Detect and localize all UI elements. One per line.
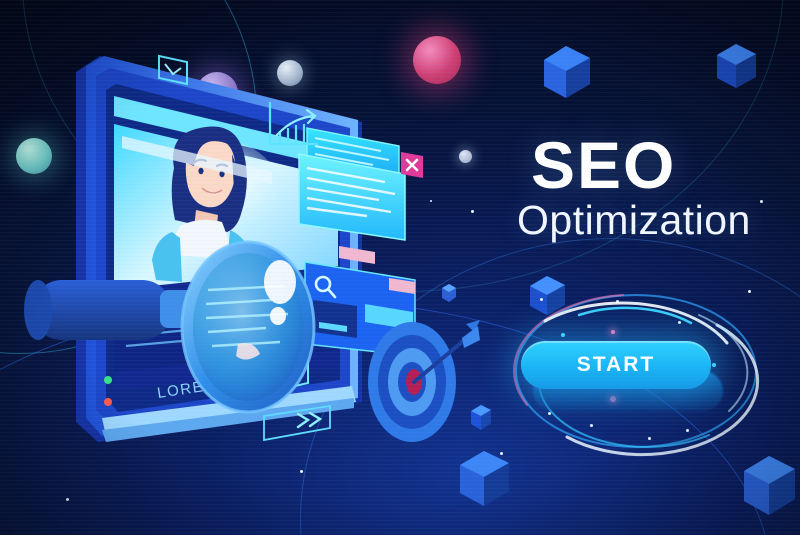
star <box>471 210 474 213</box>
start-button[interactable]: START <box>521 341 711 389</box>
cube-right-edge-icon <box>714 42 758 92</box>
small-planet-icon <box>459 150 472 163</box>
cta-area: START <box>503 285 773 465</box>
growth-chart-icon <box>262 98 324 154</box>
page-title: SEO <box>531 132 676 198</box>
cube-tiny-icon <box>440 283 458 303</box>
pink-badge <box>339 246 375 264</box>
star <box>300 470 303 473</box>
star <box>66 498 69 501</box>
target-icon <box>362 316 482 446</box>
pink-planet-icon <box>413 36 461 84</box>
mail-icon <box>156 52 190 88</box>
teal-planet-icon <box>16 138 52 174</box>
magnifier-icon <box>22 232 322 422</box>
star <box>760 200 763 203</box>
cube-top-right-icon <box>540 44 592 102</box>
close-x-icon <box>401 152 423 178</box>
seo-banner-root: LOREM IPSUM <box>0 0 800 535</box>
page-subtitle: Optimization <box>517 200 751 241</box>
